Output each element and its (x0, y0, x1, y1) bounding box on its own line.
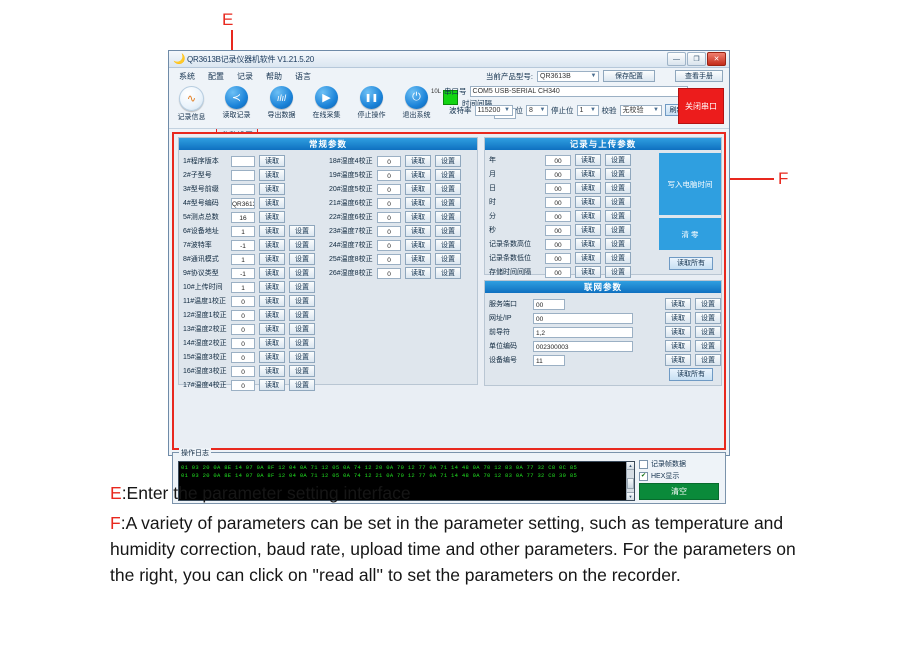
general-param-set-button[interactable]: 设置 (435, 211, 461, 223)
annotation-marker-e: E (222, 10, 233, 30)
checkbox-box (639, 460, 648, 469)
general-param-row: 10#上传时间1读取设置 (183, 280, 329, 294)
record-param-value-input[interactable]: 00 (545, 225, 571, 236)
general-param-row: 8#通讯模式1读取设置 (183, 252, 329, 266)
general-param-row: 9#协议类型-1读取设置 (183, 266, 329, 280)
general-param-value-input[interactable]: 0 (231, 352, 255, 363)
chevron-down-icon: ▼ (589, 107, 598, 113)
databits-label: 位 (516, 105, 524, 116)
record-param-label: 时 (489, 197, 545, 207)
general-param-set-button[interactable]: 设置 (435, 169, 461, 181)
network-param-row: 服务端口00读取设置 (489, 297, 721, 311)
general-param-label: 9#协议类型 (183, 268, 231, 278)
record-param-label: 日 (489, 183, 545, 193)
general-param-read-button[interactable]: 读取 (405, 155, 431, 167)
network-set-button[interactable]: 设置 (695, 298, 721, 310)
general-param-read-button[interactable]: 读取 (405, 169, 431, 181)
caption-e-text: :Enter the parameter setting interface (122, 483, 411, 503)
caption-e-key: E (110, 483, 122, 503)
record-param-label: 分 (489, 211, 545, 221)
general-param-label: 5#测点总数 (183, 212, 231, 222)
general-param-set-button[interactable]: 设置 (289, 323, 315, 335)
general-param-value-input[interactable]: 1 (231, 254, 255, 265)
general-param-row: 2#子型号读取 (183, 168, 329, 182)
general-param-label: 12#湿度1校正 (183, 310, 231, 320)
general-param-label: 11#温度1校正 (183, 296, 231, 306)
general-param-read-button[interactable]: 读取 (259, 379, 285, 391)
general-param-value-input[interactable] (231, 156, 255, 167)
menu-item-config[interactable]: 配置 (208, 71, 224, 82)
stop-bits-combo[interactable]: 1 ▼ (577, 105, 599, 116)
network-param-label: 设备编号 (489, 355, 533, 365)
general-param-row: 21#温度6校正0读取设置 (329, 196, 475, 210)
toolbar-label-record-info: 记录信息 (178, 112, 206, 122)
record-param-set-button[interactable]: 设置 (605, 168, 631, 180)
write-pc-time-button[interactable]: 写入电脑时间 (659, 153, 721, 215)
general-parameters-panel: 常规参数 1#程序版本读取2#子型号读取3#型号前缀读取4#型号编码QR3613… (178, 137, 478, 385)
general-param-row: 16#湿度3校正0读取设置 (183, 364, 329, 378)
general-param-set-button[interactable]: 设置 (435, 239, 461, 251)
general-param-value-input[interactable]: 0 (231, 310, 255, 321)
general-param-label: 19#温度5校正 (329, 170, 377, 180)
network-read-all-button[interactable]: 读取所有 (669, 368, 713, 381)
general-param-label: 21#温度6校正 (329, 198, 377, 208)
close-icon[interactable]: ✕ (707, 52, 726, 66)
general-param-set-button[interactable]: 设置 (289, 295, 315, 307)
record-param-row: 记录条数高位00读取设置 (489, 237, 659, 251)
general-param-label: 7#波特率 (183, 240, 231, 250)
general-param-set-button[interactable]: 设置 (289, 239, 315, 251)
view-manual-button[interactable]: 查看手册 (675, 70, 723, 82)
parity-label: 校验 (602, 105, 617, 116)
record-param-row: 时00读取设置 (489, 195, 659, 209)
general-param-value-input[interactable]: 0 (377, 268, 401, 279)
toolbar-button-read-record[interactable]: ≺ 读取记录 (214, 84, 259, 120)
general-param-read-button[interactable]: 读取 (259, 323, 285, 335)
general-param-value-input[interactable]: 0 (231, 296, 255, 307)
general-param-row: 14#湿度2校正0读取设置 (183, 336, 329, 350)
chevron-down-icon: ▼ (589, 73, 598, 79)
general-param-row: 20#湿度5校正0读取设置 (329, 182, 475, 196)
general-param-value-input[interactable]: 0 (377, 184, 401, 195)
parameter-setting-area: 常规参数 1#程序版本读取2#子型号读取3#型号前缀读取4#型号编码QR3613… (172, 132, 726, 450)
network-read-button[interactable]: 读取 (665, 340, 691, 352)
general-param-value-input[interactable]: 0 (377, 254, 401, 265)
general-param-label: 18#湿度4校正 (329, 156, 377, 166)
record-param-value-input[interactable]: 00 (545, 197, 571, 208)
general-param-read-button[interactable]: 读取 (259, 239, 285, 251)
general-param-row: 1#程序版本读取 (183, 154, 329, 168)
application-window: 🌙 QR3613B记录仪器机软件 V1.21.5.20 — ❐ ✕ 系统 配置 … (168, 50, 730, 456)
wave-icon: ∿ (179, 86, 204, 111)
log-line: 01 03 20 0A 8E 14 07 0A 8F 12 04 0A 71 1… (179, 464, 634, 472)
network-param-value-input[interactable]: 002300003 (533, 341, 633, 352)
record-param-row: 年00读取设置 (489, 153, 659, 167)
toolbar-label-stop: 停止操作 (358, 110, 386, 120)
general-param-set-button[interactable]: 设置 (435, 253, 461, 265)
network-param-value-input[interactable]: 11 (533, 355, 565, 366)
chevron-down-icon: ▼ (503, 107, 512, 113)
record-read-all-button[interactable]: 读取所有 (669, 257, 713, 270)
general-param-label: 4#型号编码 (183, 198, 231, 208)
general-param-label: 3#型号前缀 (183, 184, 231, 194)
toolbar-label-online-collect: 在线采集 (313, 110, 341, 120)
network-panel-title: 联网参数 (485, 281, 721, 293)
general-param-value-input[interactable]: 0 (231, 324, 255, 335)
record-param-row: 记录条数低位00读取设置 (489, 251, 659, 265)
record-param-set-button[interactable]: 设置 (605, 182, 631, 194)
general-param-set-button[interactable]: 设置 (289, 253, 315, 265)
data-bits-combo[interactable]: 8 ▼ (526, 105, 548, 116)
network-param-label: 前导符 (489, 327, 533, 337)
record-param-read-button[interactable]: 读取 (575, 154, 601, 166)
general-param-read-button[interactable]: 读取 (405, 225, 431, 237)
power-icon: ⏻ (405, 86, 428, 109)
general-param-set-button[interactable]: 设置 (435, 197, 461, 209)
general-param-set-button[interactable]: 设置 (289, 225, 315, 237)
save-config-button[interactable]: 保存配置 (603, 70, 655, 82)
general-param-set-button[interactable]: 设置 (289, 379, 315, 391)
network-read-button[interactable]: 读取 (665, 312, 691, 324)
general-param-label: 10#上传时间 (183, 282, 231, 292)
general-param-row: 17#温度4校正0读取设置 (183, 378, 329, 392)
general-param-row: 25#温度8校正0读取设置 (329, 252, 475, 266)
general-param-value-input[interactable]: 0 (377, 170, 401, 181)
general-param-value-input[interactable]: -1 (231, 268, 255, 279)
general-param-set-button[interactable]: 设置 (435, 183, 461, 195)
network-read-button[interactable]: 读取 (665, 354, 691, 366)
record-param-label: 记录条数高位 (489, 239, 545, 249)
baud-rate-value: 115200 (478, 107, 501, 114)
general-param-label: 1#程序版本 (183, 156, 231, 166)
record-param-value-input[interactable]: 00 (545, 211, 571, 222)
general-param-read-button[interactable]: 读取 (259, 197, 285, 209)
stop-bits-value: 1 (580, 107, 584, 114)
record-param-set-button[interactable]: 设置 (605, 196, 631, 208)
checkbox-record-frame-data[interactable]: 记录帧数据 (639, 459, 719, 469)
toolbar-button-stop[interactable]: ❚❚ 停止操作 (349, 84, 394, 120)
scroll-up-icon[interactable]: ▲ (627, 462, 634, 470)
caption-f: F:A variety of parameters can be set in … (110, 510, 810, 588)
stopbits-label: 停止位 (551, 105, 574, 116)
maximize-button[interactable]: ❐ (687, 52, 706, 66)
general-param-row: 19#温度5校正0读取设置 (329, 168, 475, 182)
network-read-button[interactable]: 读取 (665, 298, 691, 310)
record-param-value-input[interactable]: 00 (545, 239, 571, 250)
general-param-row: 12#湿度1校正0读取设置 (183, 308, 329, 322)
record-param-label: 年 (489, 155, 545, 165)
record-param-value-input[interactable]: 00 (545, 267, 571, 278)
serial-port-value: COM5 USB-SERIAL CH340 (473, 88, 560, 95)
record-panel-title: 记录与上传参数 (485, 138, 721, 150)
general-param-row: 5#测点总数16读取 (183, 210, 329, 224)
record-param-label: 存储时间间隔 (489, 267, 545, 277)
toolbar-button-export-data[interactable]: ılıl 导出数据 (259, 84, 304, 120)
menu-item-language[interactable]: 语言 (295, 71, 311, 82)
window-controls: — ❐ ✕ (667, 52, 727, 66)
general-param-read-button[interactable]: 读取 (405, 239, 431, 251)
close-port-button[interactable]: 关闭串口 (678, 88, 724, 124)
annotation-marker-f: F (778, 169, 788, 189)
general-param-value-input[interactable]: 0 (231, 380, 255, 391)
general-param-set-button[interactable]: 设置 (289, 267, 315, 279)
menu-item-record[interactable]: 记录 (237, 71, 253, 82)
general-param-label: 23#温度7校正 (329, 226, 377, 236)
play-icon: ▶ (315, 86, 338, 109)
general-param-value-input[interactable]: 0 (377, 240, 401, 251)
general-param-label: 17#温度4校正 (183, 380, 231, 390)
general-param-row: 24#湿度7校正0读取设置 (329, 238, 475, 252)
general-param-value-input[interactable]: QR3613B (231, 198, 255, 209)
record-param-set-button[interactable]: 设置 (605, 266, 631, 278)
record-param-row: 分00读取设置 (489, 209, 659, 223)
toolbar-label-read-record: 读取记录 (223, 110, 251, 120)
network-param-row: 前导符1,2读取设置 (489, 325, 721, 339)
export-icon: ılıl (270, 86, 293, 109)
caption-f-text: :A variety of parameters can be set in t… (110, 513, 796, 585)
general-param-label: 24#湿度7校正 (329, 240, 377, 250)
general-param-read-button[interactable]: 读取 (405, 253, 431, 265)
network-param-label: 服务端口 (489, 299, 533, 309)
toolbar: ∿ 记录信息 ≺ 读取记录 ılıl 导出数据 ▶ 在线采集 ❚❚ 停止操作 ⏻… (169, 84, 729, 129)
general-param-label: 14#湿度2校正 (183, 338, 231, 348)
caption-f-key: F (110, 513, 121, 533)
general-param-set-button[interactable]: 设置 (289, 337, 315, 349)
record-param-label: 秒 (489, 225, 545, 235)
record-param-label: 月 (489, 169, 545, 179)
network-param-label: 单位编码 (489, 341, 533, 351)
title-bar: 🌙 QR3613B记录仪器机软件 V1.21.5.20 — ❐ ✕ (169, 51, 729, 68)
toolbar-button-record-info[interactable]: ∿ 记录信息 (169, 84, 214, 122)
app-logo-icon: 🌙 (173, 54, 184, 65)
record-param-value-input[interactable]: 00 (545, 155, 571, 166)
general-right-column: 18#湿度4校正0读取设置19#温度5校正0读取设置20#湿度5校正0读取设置2… (329, 154, 475, 392)
general-param-row: 15#温度3校正0读取设置 (183, 350, 329, 364)
checkbox-record-frame-label: 记录帧数据 (651, 459, 686, 469)
network-set-button[interactable]: 设置 (695, 326, 721, 338)
record-param-value-input[interactable]: 00 (545, 253, 571, 264)
general-param-set-button[interactable]: 设置 (435, 155, 461, 167)
general-param-value-input[interactable] (231, 170, 255, 181)
general-param-value-input[interactable]: -1 (231, 240, 255, 251)
product-model-combo[interactable]: QR3613B ▼ (537, 71, 599, 82)
record-param-row: 月00读取设置 (489, 167, 659, 181)
general-param-read-button[interactable]: 读取 (259, 183, 285, 195)
network-read-button[interactable]: 读取 (665, 326, 691, 338)
general-param-set-button[interactable]: 设置 (289, 309, 315, 321)
network-param-value-input[interactable]: 00 (533, 299, 565, 310)
general-param-read-button[interactable]: 读取 (259, 281, 285, 293)
record-param-read-button[interactable]: 读取 (575, 182, 601, 194)
menu-item-system[interactable]: 系统 (179, 71, 195, 82)
log-line: 01 03 20 0A 8E 14 07 0A 8F 12 04 0A 71 1… (179, 472, 634, 480)
record-param-row: 秒00读取设置 (489, 223, 659, 237)
network-set-button[interactable]: 设置 (695, 354, 721, 366)
record-param-read-button[interactable]: 读取 (575, 168, 601, 180)
general-param-label: 8#通讯模式 (183, 254, 231, 264)
pause-icon: ❚❚ (360, 86, 383, 109)
general-param-set-button[interactable]: 设置 (435, 267, 461, 279)
network-parameters-panel: 联网参数 服务端口00读取设置网址/IP00读取设置前导符1,2读取设置单位编码… (484, 280, 722, 386)
general-left-column: 1#程序版本读取2#子型号读取3#型号前缀读取4#型号编码QR3613B读取5#… (179, 154, 329, 392)
port-label: 串口号 (444, 86, 467, 97)
network-set-button[interactable]: 设置 (695, 340, 721, 352)
general-param-read-button[interactable]: 读取 (259, 211, 285, 223)
share-icon: ≺ (225, 86, 248, 109)
record-param-value-input[interactable]: 00 (545, 169, 571, 180)
record-param-set-button[interactable]: 设置 (605, 238, 631, 250)
record-param-read-button[interactable]: 读取 (575, 210, 601, 222)
record-param-read-button[interactable]: 读取 (575, 266, 601, 278)
toolbar-label-exit: 退出系统 (403, 110, 431, 120)
general-param-label: 26#湿度8校正 (329, 268, 377, 278)
general-param-label: 20#湿度5校正 (329, 184, 377, 194)
general-param-read-button[interactable]: 读取 (259, 351, 285, 363)
network-param-row: 网址/IP00读取设置 (489, 311, 721, 325)
network-param-label: 网址/IP (489, 313, 533, 323)
general-param-row: 22#湿度6校正0读取设置 (329, 210, 475, 224)
general-param-read-button[interactable]: 读取 (405, 267, 431, 279)
general-param-label: 16#湿度3校正 (183, 366, 231, 376)
baud-rate-combo[interactable]: 115200 ▼ (475, 105, 513, 116)
record-param-row: 日00读取设置 (489, 181, 659, 195)
general-param-read-button[interactable]: 读取 (259, 155, 285, 167)
general-param-row: 13#温度2校正0读取设置 (183, 322, 329, 336)
chevron-down-icon: ▼ (538, 107, 547, 113)
general-param-read-button[interactable]: 读取 (259, 365, 285, 377)
general-param-set-button[interactable]: 设置 (289, 365, 315, 377)
general-param-row: 6#设备地址1读取设置 (183, 224, 329, 238)
product-model-value: QR3613B (540, 73, 571, 80)
record-param-set-button[interactable]: 设置 (605, 210, 631, 222)
general-param-row: 23#温度7校正0读取设置 (329, 224, 475, 238)
annotation-leader-f (728, 178, 774, 180)
general-param-row: 18#湿度4校正0读取设置 (329, 154, 475, 168)
general-param-value-input[interactable]: 0 (377, 226, 401, 237)
general-param-read-button[interactable]: 读取 (259, 337, 285, 349)
record-param-row: 存储时间间隔00读取设置 (489, 265, 659, 279)
general-param-label: 25#温度8校正 (329, 254, 377, 264)
general-param-read-button[interactable]: 读取 (259, 309, 285, 321)
general-param-value-input[interactable]: 0 (377, 212, 401, 223)
general-param-set-button[interactable]: 设置 (289, 351, 315, 363)
general-param-read-button[interactable]: 读取 (405, 197, 431, 209)
general-param-value-input[interactable] (231, 184, 255, 195)
general-param-row: 4#型号编码QR3613B读取 (183, 196, 329, 210)
general-param-row: 26#湿度8校正0读取设置 (329, 266, 475, 280)
network-param-value-input[interactable]: 00 (533, 313, 633, 324)
record-param-label: 记录条数低位 (489, 253, 545, 263)
general-panel-title: 常规参数 (179, 138, 477, 150)
network-param-value-input[interactable]: 1,2 (533, 327, 633, 338)
network-set-button[interactable]: 设置 (695, 312, 721, 324)
general-param-value-input[interactable]: 0 (231, 338, 255, 349)
count-label: 10L (431, 89, 441, 95)
general-param-value-input[interactable]: 0 (231, 366, 255, 377)
general-param-value-input[interactable]: 16 (231, 212, 255, 223)
serial-port-combo[interactable]: COM5 USB-SERIAL CH340 ▼ (470, 86, 688, 97)
general-param-label: 2#子型号 (183, 170, 231, 180)
network-param-row: 单位编码002300003读取设置 (489, 339, 721, 353)
record-param-set-button[interactable]: 设置 (605, 224, 631, 236)
record-param-value-input[interactable]: 00 (545, 183, 571, 194)
baud-label: 波特率 (449, 105, 472, 116)
general-param-value-input[interactable]: 1 (231, 226, 255, 237)
general-param-read-button[interactable]: 读取 (259, 169, 285, 181)
parity-value: 无校验 (623, 105, 644, 115)
general-param-set-button[interactable]: 设置 (289, 281, 315, 293)
window-title: QR3613B记录仪器机软件 V1.21.5.20 (187, 54, 314, 65)
general-param-row: 11#温度1校正0读取设置 (183, 294, 329, 308)
general-param-value-input[interactable]: 0 (377, 198, 401, 209)
network-param-row: 设备编号11读取设置 (489, 353, 721, 367)
general-param-label: 6#设备地址 (183, 226, 231, 236)
product-label: 当前产品型号: (486, 71, 533, 82)
general-param-row: 3#型号前缀读取 (183, 182, 329, 196)
record-param-set-button[interactable]: 设置 (605, 252, 631, 264)
general-param-value-input[interactable]: 1 (231, 282, 255, 293)
data-bits-value: 8 (529, 107, 533, 114)
general-param-read-button[interactable]: 读取 (259, 225, 285, 237)
menu-item-help[interactable]: 帮助 (266, 71, 282, 82)
record-param-read-button[interactable]: 读取 (575, 238, 601, 250)
record-param-read-button[interactable]: 读取 (575, 252, 601, 264)
general-param-read-button[interactable]: 读取 (405, 183, 431, 195)
minimize-button[interactable]: — (667, 52, 686, 66)
general-param-set-button[interactable]: 设置 (435, 225, 461, 237)
toolbar-button-online-collect[interactable]: ▶ 在线采集 (304, 84, 349, 120)
parity-combo[interactable]: 无校验 ▼ (620, 105, 662, 116)
chevron-down-icon: ▼ (652, 107, 661, 113)
general-param-read-button[interactable]: 读取 (259, 295, 285, 307)
general-param-row: 7#波特率-1读取设置 (183, 238, 329, 252)
clear-zero-button[interactable]: 清 零 (659, 218, 721, 250)
general-param-read-button[interactable]: 读取 (405, 211, 431, 223)
toolbar-label-export-data: 导出数据 (268, 110, 296, 120)
record-rows: 年00读取设置月00读取设置日00读取设置时00读取设置分00读取设置秒00读取… (485, 150, 659, 279)
caption-e: E:Enter the parameter setting interface (110, 480, 810, 506)
caption-block: E:Enter the parameter setting interface … (110, 480, 810, 592)
record-param-read-button[interactable]: 读取 (575, 196, 601, 208)
general-param-read-button[interactable]: 读取 (259, 253, 285, 265)
record-param-set-button[interactable]: 设置 (605, 154, 631, 166)
log-group-title: 操作日志 (179, 448, 211, 458)
general-param-label: 22#湿度6校正 (329, 212, 377, 222)
record-param-read-button[interactable]: 读取 (575, 224, 601, 236)
product-selector-row: 当前产品型号: QR3613B ▼ 保存配置 查看手册 (486, 68, 723, 84)
general-param-read-button[interactable]: 读取 (259, 267, 285, 279)
record-upload-panel: 记录与上传参数 年00读取设置月00读取设置日00读取设置时00读取设置分00读… (484, 137, 722, 275)
network-rows: 服务端口00读取设置网址/IP00读取设置前导符1,2读取设置单位编码00230… (485, 293, 721, 367)
general-param-label: 15#温度3校正 (183, 352, 231, 362)
general-param-label: 13#温度2校正 (183, 324, 231, 334)
general-param-value-input[interactable]: 0 (377, 156, 401, 167)
